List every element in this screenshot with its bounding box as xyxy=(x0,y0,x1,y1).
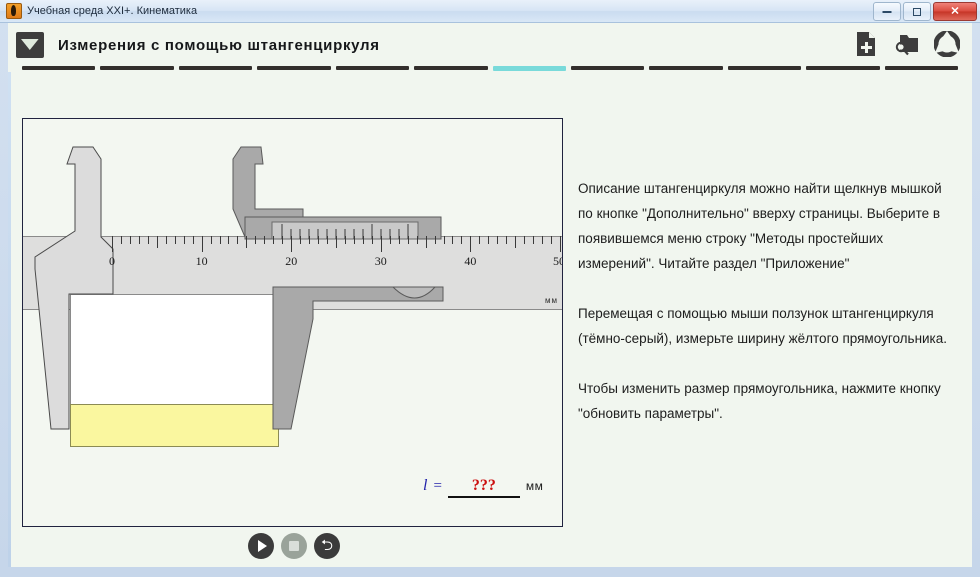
progress-segment-3[interactable] xyxy=(179,66,252,70)
scale-tick xyxy=(524,236,525,244)
progress-segment-1[interactable] xyxy=(22,66,95,70)
scale-tick xyxy=(157,236,158,248)
scale-tick xyxy=(363,236,364,244)
progress-segment-2[interactable] xyxy=(100,66,173,70)
scale-tick xyxy=(166,236,167,244)
scale-tick xyxy=(121,236,122,244)
scale-tick xyxy=(228,236,229,244)
minimize-button[interactable] xyxy=(873,2,901,21)
progress-segment-8[interactable] xyxy=(571,66,644,70)
scale-tick xyxy=(327,236,328,244)
scale-tick xyxy=(488,236,489,244)
scale-tick xyxy=(211,236,212,244)
maximize-icon xyxy=(913,8,921,16)
window-controls: ✕ xyxy=(873,2,977,21)
scale-tick xyxy=(318,236,319,244)
page-title: Измерения с помощью штангенциркуля xyxy=(58,37,380,54)
maximize-button[interactable] xyxy=(903,2,931,21)
scale-tick xyxy=(273,236,274,244)
title-bar: Учебная среда XXI+. Кинематика ✕ xyxy=(0,0,980,23)
scale-tick xyxy=(479,236,480,244)
scale-label: 40 xyxy=(464,254,476,269)
help-wheel-icon[interactable] xyxy=(934,31,958,57)
scale-tick xyxy=(515,236,516,248)
scale-tick xyxy=(426,236,427,248)
scale-tick xyxy=(148,236,149,244)
scale-tick xyxy=(130,236,131,244)
reset-button[interactable]: ⮌ xyxy=(314,533,340,559)
progress-segment-5[interactable] xyxy=(336,66,409,70)
close-button[interactable]: ✕ xyxy=(933,2,977,21)
scale-label: 20 xyxy=(285,254,297,269)
stop-icon xyxy=(289,541,299,551)
undo-arrow-icon: ⮌ xyxy=(314,533,340,559)
scale-tick xyxy=(345,236,346,244)
scale-tick xyxy=(220,236,221,244)
instruction-paragraph-1: Описание штангенциркуля можно найти щелк… xyxy=(578,176,960,276)
progress-segment-4[interactable] xyxy=(257,66,330,70)
play-icon xyxy=(258,540,267,552)
search-folder-icon[interactable] xyxy=(894,31,918,57)
scale-tick xyxy=(408,236,409,244)
scale-tick xyxy=(551,236,552,244)
scale-tick xyxy=(435,236,436,244)
flame-icon xyxy=(6,3,22,19)
scale-tick xyxy=(175,236,176,244)
scale-tick xyxy=(112,236,113,252)
page-progress-bar[interactable] xyxy=(8,64,972,72)
scale-tick xyxy=(399,236,400,244)
stop-button[interactable] xyxy=(281,533,307,559)
page-header: Измерения с помощью штангенциркуля xyxy=(8,23,972,67)
scale-tick xyxy=(560,236,561,252)
caliper-simulation-canvas[interactable]: мм xyxy=(22,118,563,527)
readout-symbol: l xyxy=(423,477,427,495)
scale-tick xyxy=(237,236,238,244)
scale-tick xyxy=(470,236,471,252)
scale-label: 30 xyxy=(375,254,387,269)
progress-segment-6[interactable] xyxy=(414,66,487,70)
scale-tick xyxy=(461,236,462,244)
scale-tick xyxy=(184,236,185,244)
scale-tick xyxy=(255,236,256,244)
scale-tick xyxy=(452,236,453,244)
beaker-icon xyxy=(16,32,44,58)
scale-tick xyxy=(300,236,301,244)
close-icon: ✕ xyxy=(950,6,959,17)
content-area: мм xyxy=(8,72,972,567)
scale-tick xyxy=(291,236,292,252)
scale-tick xyxy=(417,236,418,244)
scale-tick xyxy=(264,236,265,244)
scale-tick xyxy=(372,236,373,244)
scale-tick xyxy=(282,236,283,244)
scale-tick xyxy=(542,236,543,244)
header-toolbar xyxy=(854,31,958,57)
progress-segment-12[interactable] xyxy=(885,66,958,70)
main-scale: 01020304050 xyxy=(23,236,563,266)
left-rail xyxy=(8,72,11,567)
scale-tick xyxy=(354,236,355,244)
play-button[interactable] xyxy=(248,533,274,559)
vernier-slider[interactable] xyxy=(23,119,563,527)
scale-tick xyxy=(381,236,382,252)
progress-segment-9[interactable] xyxy=(649,66,722,70)
scale-tick xyxy=(193,236,194,244)
scale-label: 0 xyxy=(109,254,115,269)
readout-equals: = xyxy=(433,478,441,495)
scale-tick xyxy=(309,236,310,244)
scale-tick xyxy=(390,236,391,244)
scale-tick xyxy=(139,236,140,244)
scale-tick xyxy=(336,236,337,248)
scale-label: 10 xyxy=(196,254,208,269)
measurement-readout: l = ??? мм xyxy=(423,477,543,498)
instruction-paragraph-3: Чтобы изменить размер прямоугольника, на… xyxy=(578,376,960,426)
scale-tick xyxy=(497,236,498,244)
minimize-icon xyxy=(883,11,892,13)
readout-unit: мм xyxy=(526,479,544,493)
window-title: Учебная среда XXI+. Кинематика xyxy=(27,5,197,17)
progress-segment-7[interactable] xyxy=(493,66,566,71)
application-window: Учебная среда XXI+. Кинематика ✕ Измерен… xyxy=(0,0,980,577)
scale-label: 50 xyxy=(553,254,563,269)
playback-controls: ⮌ xyxy=(248,533,340,559)
scale-tick xyxy=(506,236,507,244)
readout-value: ??? xyxy=(448,477,520,498)
scale-tick xyxy=(444,236,445,244)
progress-segment-11[interactable] xyxy=(806,66,879,70)
instruction-panel: Описание штангенциркуля можно найти щелк… xyxy=(578,176,960,451)
scale-tick xyxy=(533,236,534,244)
instruction-paragraph-2: Перемещая с помощью мыши ползунок штанге… xyxy=(578,301,960,351)
new-page-icon[interactable] xyxy=(854,31,878,57)
progress-segment-10[interactable] xyxy=(728,66,801,70)
scale-tick xyxy=(246,236,247,248)
scale-tick xyxy=(202,236,203,252)
